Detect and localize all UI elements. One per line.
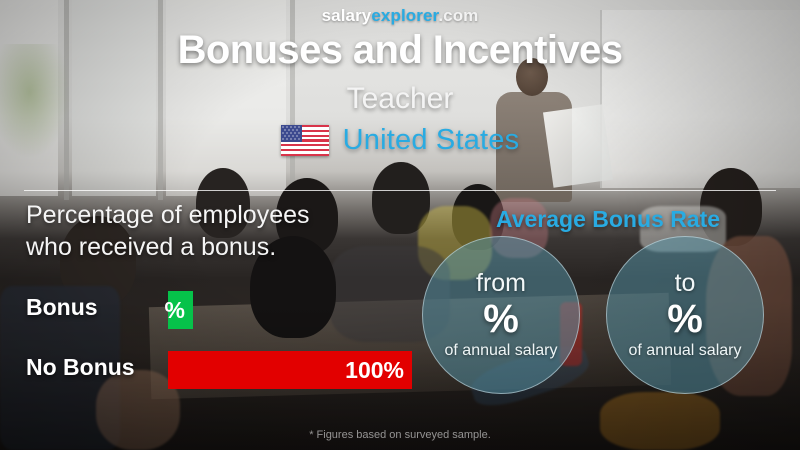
bar-label-no-bonus: No Bonus [26, 354, 135, 381]
left-panel-heading: Percentage of employees who received a b… [26, 200, 426, 263]
page-title: Bonuses and Incentives [0, 28, 800, 73]
job-title: Teacher [0, 82, 800, 116]
to-caption: to [675, 271, 696, 296]
logo-prefix: salary [322, 6, 372, 25]
from-caption: from [476, 271, 526, 296]
bar-fill-no-bonus: 100% [168, 351, 412, 389]
bar-row-no-bonus: No Bonus 100% [26, 348, 416, 392]
to-sublabel: of annual salary [629, 342, 742, 360]
infographic-page: salaryexplorer.com Bonuses and Incentive… [0, 0, 800, 450]
bonus-bar-chart: Bonus % No Bonus 100% [26, 288, 416, 408]
bonus-rate-from-circle: from % of annual salary [422, 236, 580, 394]
logo-suffix: .com [438, 6, 478, 25]
from-value: % [483, 298, 519, 340]
average-bonus-rate-heading: Average Bonus Rate [430, 206, 786, 233]
site-logo[interactable]: salaryexplorer.com [0, 6, 800, 26]
country-name: United States [343, 124, 520, 157]
logo-middle: explorer [371, 6, 438, 25]
bar-row-bonus: Bonus % [26, 288, 416, 332]
lead-line-2: who received a bonus. [26, 232, 426, 264]
united-states-flag-icon [281, 125, 329, 156]
from-sublabel: of annual salary [445, 342, 558, 360]
to-value: % [667, 298, 703, 340]
bonus-rate-circles: from % of annual salary to % of annual s… [420, 236, 792, 396]
header-divider [24, 190, 776, 191]
bar-fill-bonus: % [168, 291, 193, 329]
bonus-rate-to-circle: to % of annual salary [606, 236, 764, 394]
country-row: United States [0, 124, 800, 157]
bar-value-bonus: % [165, 297, 185, 324]
footnote: * Figures based on surveyed sample. [0, 429, 800, 441]
bar-label-bonus: Bonus [26, 294, 98, 321]
bar-value-no-bonus: 100% [345, 357, 404, 384]
lead-line-1: Percentage of employees [26, 200, 426, 232]
bar-track-bonus: % [168, 291, 416, 329]
bar-track-no-bonus: 100% [168, 351, 416, 389]
